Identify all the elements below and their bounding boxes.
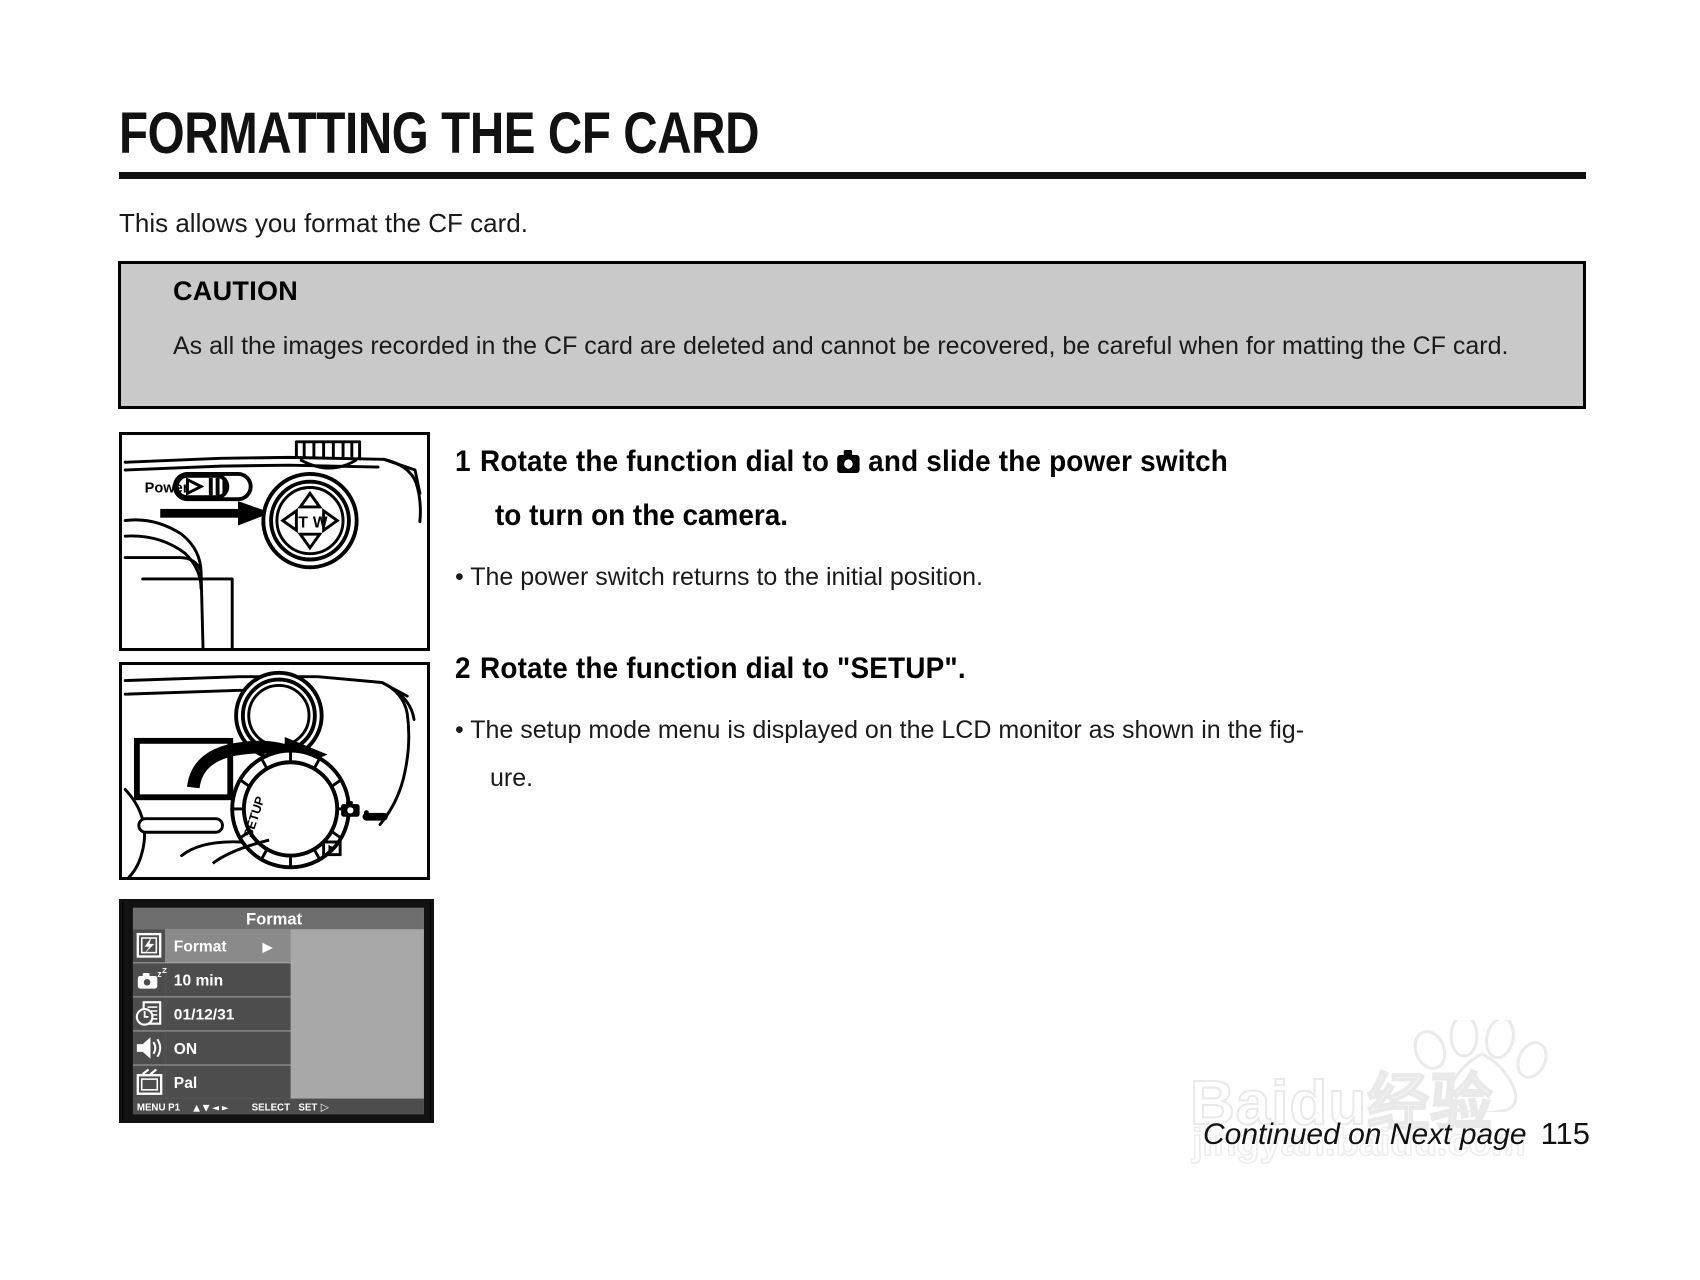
lcd-row-value-beep: ON (174, 1041, 197, 1058)
lcd-row-value-date: 01/12/31 (174, 1007, 235, 1024)
lcd-row-date: 01/12/31 (133, 997, 291, 1030)
caution-body: As all the images recorded in the CF car… (173, 322, 1563, 371)
lcd-status-dpad-icons: ▲ ▼ ◄ ► (193, 1103, 229, 1113)
dial-index-mark (363, 813, 388, 821)
four-way-nav-dial: T W (263, 474, 356, 567)
step-2-bullet-line-2: ure. (490, 754, 1585, 802)
step-1-heading-text-part-2: and slide the power switch (868, 445, 1228, 478)
title-underline-rule (119, 172, 1586, 179)
step-2-heading-text: Rotate the function dial to "SETUP". (480, 652, 966, 685)
lcd-status-set-label: SET (298, 1102, 317, 1113)
mode-dial-drawing: SETUP (122, 665, 427, 877)
mode-dial: SETUP (232, 751, 369, 868)
nav-label-tele: T (298, 514, 308, 531)
step-2-heading: 2Rotate the function dial to "SETUP". (455, 643, 1506, 694)
continued-note: Continued on Next page (1203, 1118, 1527, 1152)
step-1-heading-text-part-1: Rotate the function dial to (480, 445, 829, 478)
page-footer: Continued on Next page 115 (1203, 1116, 1590, 1152)
lcd-menu-title: Format (246, 909, 303, 928)
step-1: 1Rotate the function dial toand slide th… (455, 436, 1585, 601)
lcd-row-arrow-format: ▶ (262, 940, 273, 956)
step-1-number: 1 (455, 445, 471, 478)
slide-direction-arrow (160, 501, 271, 525)
svg-text:Z: Z (162, 966, 167, 975)
step-2: 2Rotate the function dial to "SETUP". • … (455, 643, 1585, 802)
lcd-row-format: Format ▶ (133, 929, 291, 962)
step-2-number: 2 (455, 652, 471, 685)
step-2-bullet-line-1: • The setup mode menu is displayed on th… (455, 716, 1304, 744)
caution-heading: CAUTION (173, 276, 298, 307)
camera-mode-icon (837, 439, 861, 490)
lcd-row-value-format: Format (174, 939, 227, 956)
lcd-row-value-auto-power-off: 10 min (174, 973, 223, 990)
page-number: 115 (1541, 1116, 1590, 1152)
step-2-bullet: • The setup mode menu is displayed on th… (455, 706, 1585, 802)
nav-label-wide: W (313, 514, 328, 531)
page-title: FORMATTING THE CF CARD (119, 104, 1324, 164)
camera-top-mode-dial-illustration: SETUP (119, 662, 430, 880)
caution-box: CAUTION As all the images recorded in th… (118, 261, 1586, 409)
lcd-row-auto-power-off: z Z 10 min (133, 963, 291, 996)
title-block: FORMATTING THE CF CARD (119, 104, 1589, 179)
lcd-row-video-out: Pal (133, 1066, 291, 1099)
manual-page: FORMATTING THE CF CARD This allows you f… (0, 0, 1700, 1280)
lcd-status-select-label: SELECT (252, 1102, 290, 1113)
lcd-row-beep: ON (133, 1031, 291, 1064)
lcd-setup-menu-screenshot: Format Format ▶ (119, 899, 434, 1123)
camera-back-drawing: Power T W (122, 435, 427, 648)
intro-text: This allows you format the CF card. (119, 208, 528, 239)
camera-back-illustration: Power T W (119, 432, 430, 651)
lcd-status-set-arrow-icon: ▷ (321, 1100, 330, 1113)
grip-slot (139, 819, 223, 833)
step-1-heading-line-1: 1Rotate the function dial toand slide th… (455, 436, 1506, 490)
step-1-bullet: • The power switch returns to the initia… (455, 553, 1585, 601)
power-label: Power (145, 480, 189, 496)
step-1-heading-line-2: to turn on the camera. (495, 490, 1509, 541)
format-card-icon (138, 934, 160, 956)
paw-print-icon (1408, 1020, 1558, 1112)
lcd-menu-drawing: Format Format ▶ (122, 902, 431, 1120)
lcd-status-menu-label: MENU P1 (137, 1102, 181, 1113)
lcd-row-value-video-out: Pal (174, 1075, 197, 1092)
